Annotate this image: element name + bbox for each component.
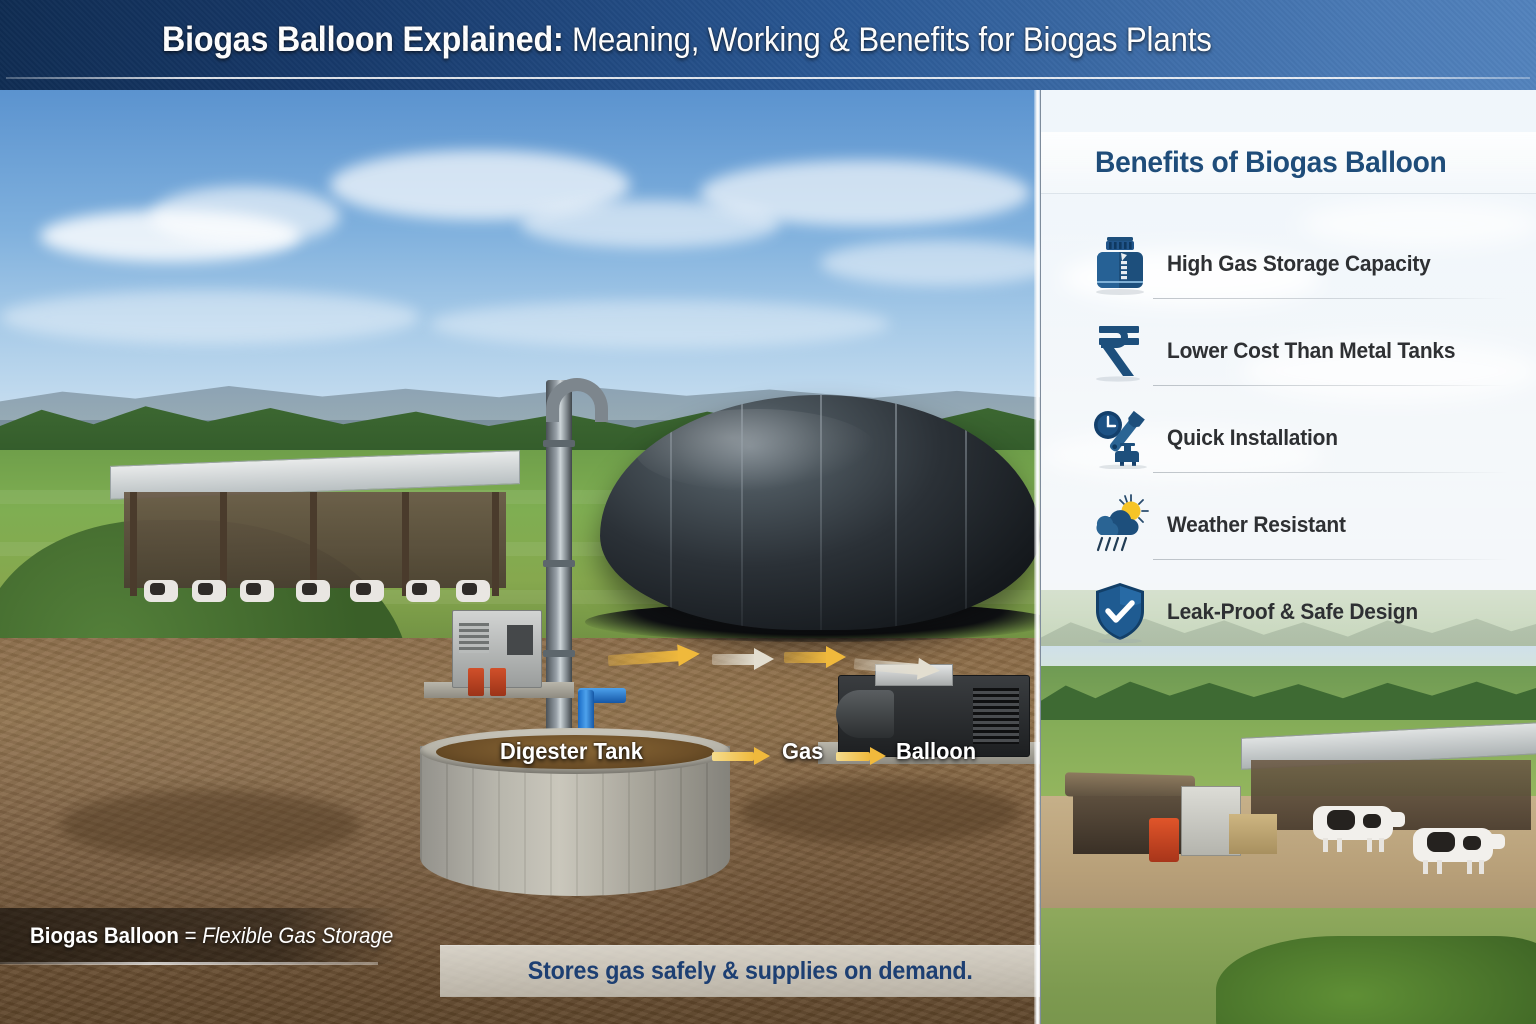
panel-divider [1034, 90, 1041, 1024]
benefit-row-divider [1153, 298, 1508, 299]
farm-photo [1041, 646, 1536, 1024]
control-panel [507, 625, 533, 655]
label-balloon: Balloon [896, 738, 976, 765]
cow-leg [1479, 860, 1484, 874]
page-title: Biogas Balloon Explained: Meaning, Worki… [162, 20, 1212, 60]
cow-spot [1363, 814, 1381, 828]
arrow-shaft [608, 650, 681, 666]
gas-flow-arrow-2 [712, 648, 774, 670]
balloon-seam [741, 395, 743, 630]
arrow-shaft [712, 752, 754, 761]
summary-caption-bar: Stores gas safely & supplies on demand. [440, 945, 1040, 997]
fuel-drum [490, 668, 506, 696]
cloud [0, 290, 420, 344]
benefit-label: Weather Resistant [1167, 512, 1346, 538]
cloud [150, 186, 340, 246]
header-banner: Biogas Balloon Explained: Meaning, Worki… [0, 0, 1536, 90]
cloud [700, 160, 1030, 226]
benefit-row-divider [1153, 472, 1508, 473]
arrow-head-icon [826, 646, 846, 668]
cow-leg [1379, 838, 1384, 852]
pipe-band [543, 440, 575, 447]
benefits-heading-band: Benefits of Biogas Balloon [1041, 132, 1536, 194]
cow-leg [1437, 860, 1442, 874]
arrow-head-icon [754, 747, 770, 765]
gas-pump [836, 690, 894, 738]
gas-cylinder-icon [1087, 233, 1153, 295]
cow-head [1385, 812, 1405, 827]
page-title-strong: Biogas Balloon Explained: [162, 20, 564, 59]
dirt-mound [740, 780, 1020, 844]
cow [1313, 806, 1393, 852]
benefit-label: Quick Installation [1167, 425, 1338, 451]
arrow-shaft [854, 658, 921, 675]
pipe-band [543, 650, 575, 657]
page-title-light: Meaning, Working & Benefits for Biogas P… [564, 21, 1212, 59]
label-gas: Gas [782, 738, 823, 765]
cow [144, 580, 178, 602]
crop-rows [1216, 936, 1536, 1024]
cow-leg [1337, 838, 1342, 852]
benefit-item-quick-installation[interactable]: Quick Installation [1041, 394, 1536, 481]
benefit-row-divider [1153, 559, 1508, 560]
definition-caption-rule [0, 962, 378, 965]
cow-leg [1467, 860, 1472, 874]
benefit-row-divider [1153, 385, 1508, 386]
cow [192, 580, 226, 602]
red-drum [1149, 818, 1179, 862]
cow-spot [1463, 836, 1481, 850]
radiator-grill [973, 688, 1019, 744]
balloon-seam [895, 395, 897, 630]
benefits-panel: Benefits of Biogas Balloon [1041, 90, 1536, 1024]
label-digester-tank: Digester Tank [500, 738, 643, 765]
arrow-head-icon [754, 648, 774, 670]
cow-leg [1423, 860, 1428, 874]
cow [350, 580, 384, 602]
cow [296, 580, 330, 602]
benefit-item-leak-proof-safe-design[interactable]: Leak-Proof & Safe Design [1041, 568, 1536, 655]
benefits-heading: Benefits of Biogas Balloon [1095, 146, 1446, 180]
cow [240, 580, 274, 602]
benefit-label: Lower Cost Than Metal Tanks [1167, 338, 1455, 364]
arrow-shaft [712, 654, 756, 665]
benefit-label: Leak-Proof & Safe Design [1167, 599, 1418, 625]
benefit-item-weather-resistant[interactable]: Weather Resistant [1041, 481, 1536, 568]
balloon-seam [965, 395, 967, 630]
cow-spot [1327, 810, 1355, 830]
arrow-head-icon [917, 658, 941, 682]
cow-spot [1427, 832, 1455, 852]
cow [1413, 828, 1493, 874]
cloud [430, 300, 890, 348]
definition-value: Flexible Gas Storage [202, 923, 393, 948]
cattle-shed-left [110, 458, 520, 608]
definition-equals: = [179, 923, 202, 948]
arrow-head-icon [870, 747, 886, 765]
shed-post [492, 492, 499, 596]
arrow-head-icon [677, 643, 700, 666]
benefit-item-high-gas-storage-capacity[interactable]: High Gas Storage Capacity [1041, 220, 1536, 307]
dirt-mound [60, 790, 360, 860]
arrow-shaft [784, 652, 828, 663]
cow [456, 580, 490, 602]
benefits-list: High Gas Storage Capacity [1041, 220, 1536, 655]
arrow-shaft [836, 752, 870, 761]
shield-check-icon [1087, 581, 1153, 643]
shed-post [130, 492, 137, 596]
vent-grill [459, 623, 489, 653]
balloon-seam [670, 395, 672, 630]
cow-leg [1367, 838, 1372, 852]
main-photo-scene: Digester Tank Gas Balloon Biogas Balloon… [0, 90, 1040, 1024]
gas-flow-arrow-3 [784, 646, 846, 668]
cow-leg [1323, 838, 1328, 852]
cow [406, 580, 440, 602]
header-divider-rule [6, 77, 1530, 79]
pipe-band [543, 560, 575, 567]
flow-step-arrow-2 [836, 747, 886, 765]
definition-caption-text: Biogas Balloon = Flexible Gas Storage [30, 923, 393, 949]
infographic-canvas: Biogas Balloon Explained: Meaning, Worki… [0, 0, 1536, 1024]
cloud-sun-rain-icon [1087, 494, 1153, 556]
summary-caption-text: Stores gas safely & supplies on demand. [528, 957, 973, 986]
benefit-item-lower-cost-than-metal-tanks[interactable]: Lower Cost Than Metal Tanks [1041, 307, 1536, 394]
definition-term: Biogas Balloon [30, 923, 179, 948]
balloon-seam [820, 395, 822, 630]
rupee-icon [1087, 320, 1153, 382]
clock-wrench-icon [1087, 407, 1153, 469]
benefit-label: High Gas Storage Capacity [1167, 251, 1431, 277]
fuel-drum [468, 668, 484, 696]
cow-head [1485, 834, 1505, 849]
definition-caption: Biogas Balloon = Flexible Gas Storage [0, 908, 400, 964]
feed-bale [1229, 814, 1277, 854]
flow-step-arrow-1 [712, 747, 770, 765]
